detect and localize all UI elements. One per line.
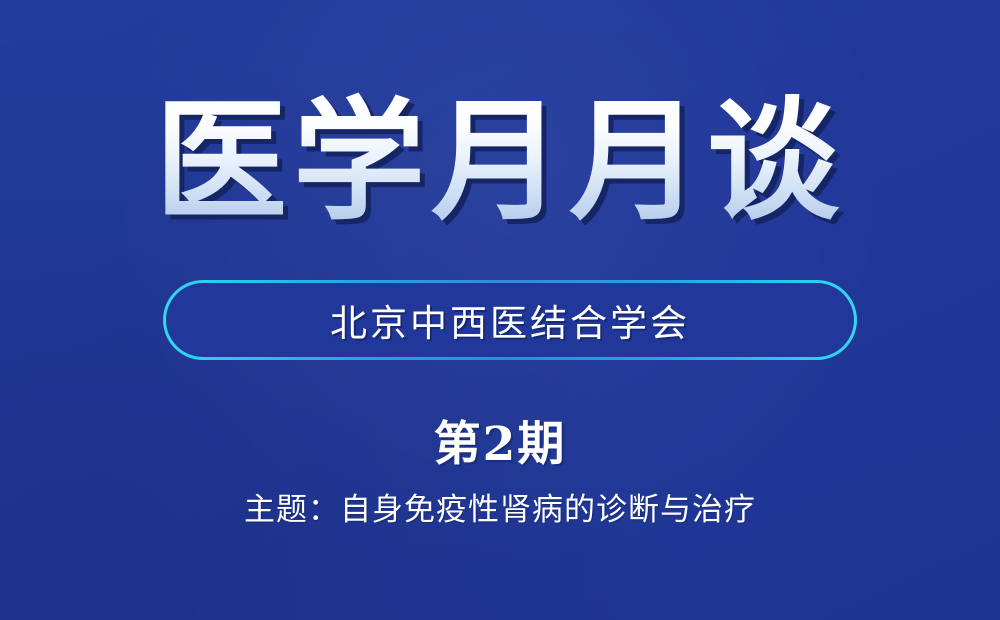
poster-canvas: 医学月月谈 医学月月谈 北京中西医结合学会 第2期 主题：自身免疫性肾病的诊断与… — [0, 0, 1000, 620]
topic-line: 主题：自身免疫性肾病的诊断与治疗 — [0, 484, 1000, 529]
organization-badge-inner: 北京中西医结合学会 — [166, 283, 854, 357]
main-title-container: 医学月月谈 医学月月谈 — [0, 96, 1000, 256]
organization-badge: 北京中西医结合学会 — [163, 280, 857, 360]
organization-name: 北京中西医结合学会 — [330, 293, 690, 347]
issue-number: 第2期 — [0, 405, 1000, 474]
main-title: 医学月月谈 医学月月谈 — [155, 96, 845, 228]
main-title-text: 医学月月谈 — [155, 84, 845, 239]
